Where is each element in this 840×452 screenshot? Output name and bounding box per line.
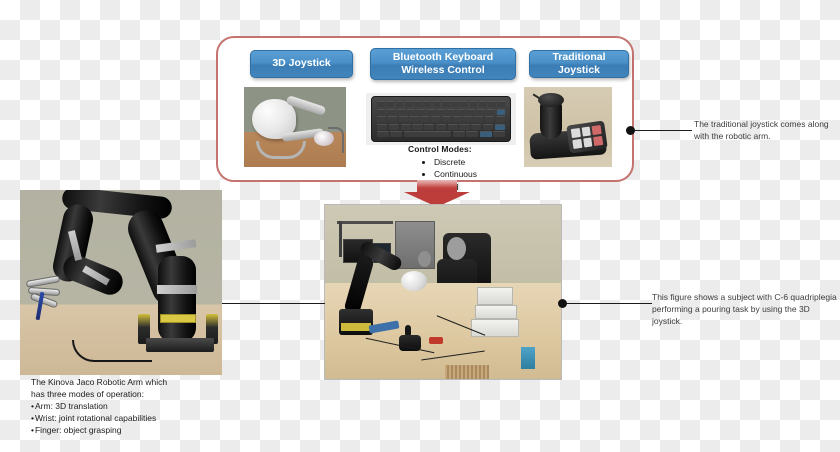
keyboard-row xyxy=(377,109,505,115)
control-mode-item: Discrete xyxy=(422,156,528,168)
arm-joint-band xyxy=(157,285,197,294)
control-modes-title: Control Modes: xyxy=(408,144,528,154)
button-traditional-joystick-label: Traditional Joystick xyxy=(534,51,624,77)
joystick-3d-cable xyxy=(328,127,344,153)
photo-kinova-jaco-arm xyxy=(20,190,222,375)
annotation-subject-pouring-task: This figure shows a subject with C-6 qua… xyxy=(652,291,838,327)
keyboard-row xyxy=(377,101,505,107)
connector-lab-to-note xyxy=(566,303,652,304)
arm-power-cord xyxy=(72,340,152,362)
lab-3d-joystick xyxy=(401,271,427,291)
arm-base-plate xyxy=(146,338,214,352)
connector-joystick-endpoint-dot xyxy=(626,126,635,135)
connector-lab-endpoint-dot xyxy=(558,299,567,308)
lab-robot-arm-clamp xyxy=(341,323,371,331)
button-traditional-joystick[interactable]: Traditional Joystick xyxy=(529,50,629,78)
keyboard-row xyxy=(377,131,505,137)
control-mode-item: Continuous xyxy=(422,168,528,180)
arm-gripper xyxy=(26,276,72,306)
caption-bullet-wrist: Wrist: joint rotational capabilities xyxy=(31,412,246,424)
arm-warning-label xyxy=(160,314,196,323)
lab-shelf-leg xyxy=(339,221,342,257)
keyboard-body xyxy=(371,96,511,142)
button-3d-joystick-label: 3D Joystick xyxy=(272,57,330,70)
photo-lab-subject-pouring-task xyxy=(324,204,562,380)
lab-equipment-box xyxy=(475,305,517,319)
lab-robot-arm-base xyxy=(339,309,373,335)
lab-grid-pad xyxy=(445,365,489,380)
bt-label-line2: Wireless Control xyxy=(401,64,484,76)
arm-segment-base-column xyxy=(158,256,196,342)
photo-3d-joystick xyxy=(244,87,346,167)
joystick-3d-base xyxy=(256,141,306,159)
caption-line-1: The Kinova Jaco Robotic Arm which xyxy=(31,376,246,388)
keyboard-row xyxy=(377,124,505,130)
gripper-finger xyxy=(26,275,61,288)
button-bluetooth-keyboard[interactable]: Bluetooth Keyboard Wireless Control xyxy=(370,48,516,80)
down-arrow-icon xyxy=(404,180,470,207)
lab-equipment-box xyxy=(471,319,519,337)
lab-shelf xyxy=(337,221,393,224)
button-bluetooth-keyboard-label: Bluetooth Keyboard Wireless Control xyxy=(393,51,493,77)
photo-traditional-joystick xyxy=(524,87,612,167)
traditional-joystick-button-pad xyxy=(566,120,608,153)
assistant-head-blurred xyxy=(418,251,431,267)
caption-bullet-arm: Arm: 3D translation xyxy=(31,400,246,412)
connector-joystick-to-note xyxy=(634,130,692,131)
caption-line-2: has three modes of operation: xyxy=(31,388,246,400)
connector-arm-to-lab xyxy=(222,303,325,304)
caption-kinova-arm: The Kinova Jaco Robotic Arm which has th… xyxy=(31,376,246,436)
lab-equipment-box xyxy=(477,287,513,305)
caption-bullet-finger: Finger: object grasping xyxy=(31,424,246,436)
lab-cup xyxy=(521,347,535,369)
subject-head-blurred xyxy=(447,237,466,260)
lab-red-tool xyxy=(429,337,443,344)
photo-bluetooth-keyboard xyxy=(366,93,516,145)
input-devices-panel: 3D Joystick Bluetooth Keyboard Wireless … xyxy=(216,36,634,182)
annotation-traditional-joystick: The traditional joystick comes along wit… xyxy=(694,118,834,142)
keyboard-row xyxy=(377,116,505,122)
bt-label-line1: Bluetooth Keyboard xyxy=(393,51,493,63)
traditional-joystick-knob xyxy=(538,93,564,107)
button-3d-joystick[interactable]: 3D Joystick xyxy=(250,50,353,78)
